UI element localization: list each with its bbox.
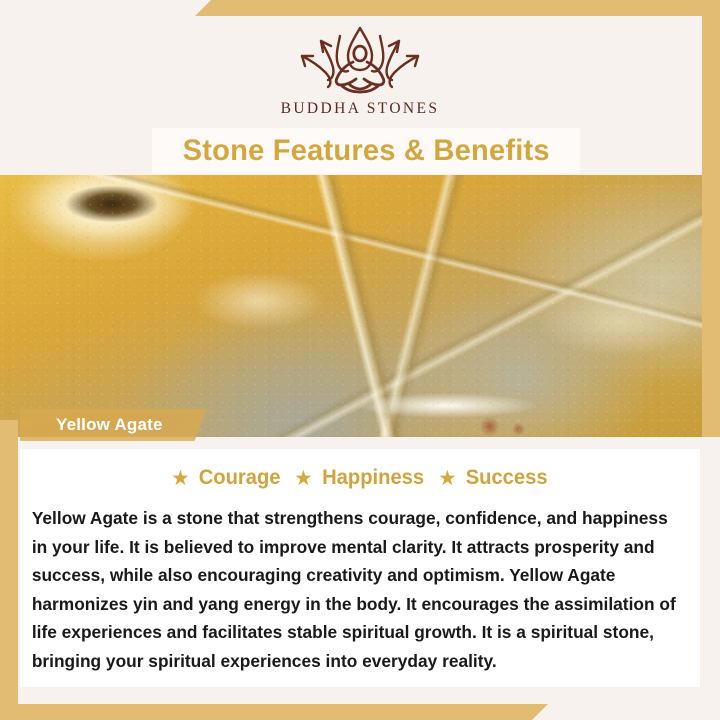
benefit-keywords: ★ Courage ★ Happiness ★ Success xyxy=(20,466,700,490)
benefit-keyword-success: ★ Success xyxy=(438,466,549,490)
stone-name-tag: Yellow Agate xyxy=(20,409,207,441)
stone-info-card: BUDDHA STONES Stone Features & Benefits … xyxy=(0,0,720,720)
stone-description: Yellow Agate is a stone that strengthens… xyxy=(20,504,690,675)
gold-accent-bar-bottom xyxy=(0,704,548,720)
gold-accent-bar-left xyxy=(0,420,18,720)
stone-name-label: Yellow Agate xyxy=(56,415,163,435)
lotus-meditation-figure-icon xyxy=(274,22,446,96)
star-icon: ★ xyxy=(294,468,313,489)
gold-accent-bar-right xyxy=(702,0,720,437)
benefit-keyword-label: Happiness xyxy=(322,466,424,490)
benefit-keyword-courage: ★ Courage xyxy=(171,466,282,490)
star-icon: ★ xyxy=(438,468,457,489)
brand-name: BUDDHA STONES xyxy=(0,100,720,118)
stone-photo xyxy=(0,175,720,437)
gold-accent-bar-top xyxy=(195,0,720,16)
page-title: Stone Features & Benefits xyxy=(182,134,549,168)
benefit-keyword-label: Courage xyxy=(198,466,280,490)
benefit-keyword-happiness: ★ Happiness xyxy=(294,466,426,490)
content-card: ★ Courage ★ Happiness ★ Success Yellow A… xyxy=(20,437,700,687)
stone-speckle xyxy=(0,175,720,437)
star-icon: ★ xyxy=(171,468,190,489)
title-banner: Stone Features & Benefits xyxy=(152,128,580,174)
benefit-keyword-label: Success xyxy=(466,466,548,490)
brand-logo: BUDDHA STONES xyxy=(0,22,720,118)
